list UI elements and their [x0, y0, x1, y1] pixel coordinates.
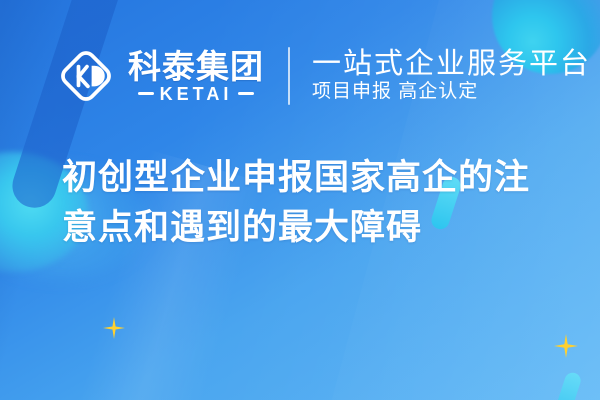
page-title: 初创型企业申报国家高企的注意点和遇到的最大障碍 — [62, 153, 554, 252]
promo-banner: 科泰集团 KETAI 一站式企业服务平台 项目申报 高企认定 初创型企业申报国家… — [0, 0, 600, 400]
tagline-main: 一站式企业服务平台 — [312, 49, 591, 79]
brand-name-en-row: KETAI — [128, 85, 264, 103]
brand-name-en: KETAI — [160, 85, 233, 103]
header-divider — [288, 47, 290, 105]
brand-wordmark: 科泰集团 KETAI — [128, 50, 264, 103]
dash-left-decoration — [138, 92, 154, 95]
brand-name-cn: 科泰集团 — [128, 50, 264, 83]
sparkle-star-right-icon — [554, 334, 578, 358]
tagline-sub: 项目申报 高企认定 — [312, 82, 591, 103]
dash-right-decoration — [238, 92, 254, 95]
brand-logo: 科泰集团 KETAI — [56, 46, 264, 106]
banner-header: 科泰集团 KETAI 一站式企业服务平台 项目申报 高企认定 — [56, 38, 560, 114]
tagline-block: 一站式企业服务平台 项目申报 高企认定 — [312, 49, 591, 103]
ketai-diamond-kt-monogram-icon — [56, 46, 116, 106]
sparkle-star-left-icon — [103, 317, 125, 339]
